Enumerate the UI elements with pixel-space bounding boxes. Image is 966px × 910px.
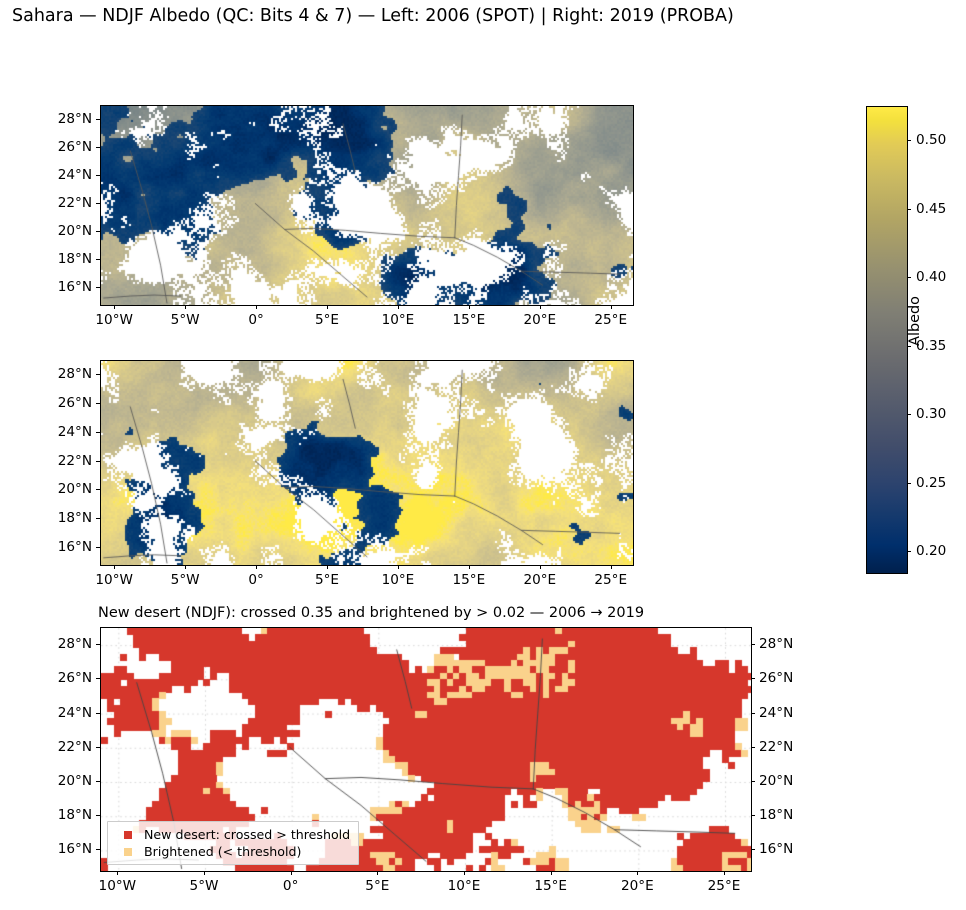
y-tick-label: 16°N xyxy=(14,279,92,295)
x-tick-label: 5°E xyxy=(315,312,339,328)
x-tick-label: 25°E xyxy=(594,312,627,328)
x-tick-label: 20°E xyxy=(523,312,556,328)
x-tick-mark xyxy=(291,871,292,875)
y-tick-label-right: 24°N xyxy=(759,705,793,721)
y-tick-mark xyxy=(96,259,100,260)
legend-swatch-brightened xyxy=(124,848,132,856)
x-tick-mark xyxy=(540,305,541,309)
y-tick-mark xyxy=(96,747,100,748)
x-tick-label: 10°W xyxy=(95,572,133,588)
x-tick-mark xyxy=(117,871,118,875)
x-tick-mark xyxy=(327,305,328,309)
x-tick-label: 20°E xyxy=(621,878,654,894)
colorbar-tick-mark xyxy=(907,140,911,141)
colorbar-tick-label: 0.20 xyxy=(916,543,946,559)
y-tick-label: 26°N xyxy=(14,395,92,411)
y-tick-mark xyxy=(96,815,100,816)
x-tick-mark xyxy=(256,305,257,309)
colorbar-tick-label: 0.45 xyxy=(916,201,946,217)
x-tick-label: 15°E xyxy=(453,572,486,588)
albedo-map-2019-panel[interactable] xyxy=(100,360,634,566)
x-tick-label: 0° xyxy=(248,572,263,588)
y-tick-label: 16°N xyxy=(14,539,92,555)
y-tick-label: 18°N xyxy=(14,807,92,823)
y-tick-mark xyxy=(96,432,100,433)
y-tick-label: 22°N xyxy=(14,739,92,755)
x-tick-mark xyxy=(327,565,328,569)
x-tick-label: 25°E xyxy=(708,878,741,894)
y-tick-label: 22°N xyxy=(14,195,92,211)
colorbar-tick-mark xyxy=(907,209,911,210)
y-tick-mark xyxy=(96,678,100,679)
y-tick-label: 24°N xyxy=(14,424,92,440)
y-tick-mark xyxy=(96,644,100,645)
y-tick-mark xyxy=(96,119,100,120)
y-tick-mark xyxy=(96,287,100,288)
y-tick-label: 18°N xyxy=(14,251,92,267)
x-tick-label: 5°W xyxy=(190,878,219,894)
x-tick-label: 0° xyxy=(248,312,263,328)
y-tick-mark-right xyxy=(751,747,755,748)
x-tick-mark xyxy=(611,565,612,569)
x-tick-mark xyxy=(398,565,399,569)
x-tick-label: 25°E xyxy=(594,572,627,588)
y-tick-mark xyxy=(96,547,100,548)
y-tick-label: 24°N xyxy=(14,167,92,183)
y-tick-mark xyxy=(96,203,100,204)
y-tick-mark-right xyxy=(751,849,755,850)
colorbar-tick-label: 0.50 xyxy=(916,132,946,148)
y-tick-mark-right xyxy=(751,781,755,782)
x-tick-label: 20°E xyxy=(523,572,556,588)
x-tick-label: 5°W xyxy=(171,312,200,328)
y-tick-label-right: 28°N xyxy=(759,636,793,652)
albedo-map-2006-panel[interactable] xyxy=(100,105,634,306)
legend-label-new-desert: New desert: crossed > threshold xyxy=(144,826,350,843)
y-tick-label: 24°N xyxy=(14,705,92,721)
x-tick-mark xyxy=(724,871,725,875)
legend-label-brightened: Brightened (< threshold) xyxy=(144,843,301,860)
y-tick-mark-right xyxy=(751,678,755,679)
x-tick-mark xyxy=(611,305,612,309)
x-tick-label: 10°E xyxy=(448,878,481,894)
x-tick-mark xyxy=(377,871,378,875)
legend-item-brightened[interactable]: Brightened (< threshold) xyxy=(114,843,350,860)
y-tick-mark xyxy=(96,781,100,782)
albedo-map-2019-raster xyxy=(101,361,633,565)
colorbar-tick-label: 0.25 xyxy=(916,475,946,491)
y-tick-label-right: 16°N xyxy=(759,841,793,857)
y-tick-label: 22°N xyxy=(14,453,92,469)
legend-item-new-desert[interactable]: New desert: crossed > threshold xyxy=(114,826,350,843)
y-tick-label: 20°N xyxy=(14,481,92,497)
y-tick-label: 28°N xyxy=(14,111,92,127)
x-tick-mark xyxy=(637,871,638,875)
colorbar-tick-mark xyxy=(907,414,911,415)
x-tick-label: 15°E xyxy=(453,312,486,328)
y-tick-mark xyxy=(96,713,100,714)
y-tick-label-right: 20°N xyxy=(759,773,793,789)
change-map-legend[interactable]: New desert: crossed > threshold Brighten… xyxy=(107,821,359,865)
x-tick-label: 5°E xyxy=(315,572,339,588)
x-tick-label: 10°W xyxy=(95,312,133,328)
y-tick-mark-right xyxy=(751,644,755,645)
colorbar-tick-mark xyxy=(907,551,911,552)
y-tick-mark xyxy=(96,374,100,375)
y-tick-label: 26°N xyxy=(14,670,92,686)
albedo-colorbar-label: Albedo xyxy=(907,261,923,381)
y-tick-mark xyxy=(96,518,100,519)
x-tick-label: 10°W xyxy=(99,878,137,894)
y-tick-label: 16°N xyxy=(14,841,92,857)
x-tick-mark xyxy=(185,305,186,309)
x-tick-label: 10°E xyxy=(382,312,415,328)
y-tick-mark xyxy=(96,849,100,850)
change-map-title: New desert (NDJF): crossed 0.35 and brig… xyxy=(98,605,644,621)
x-tick-label: 0° xyxy=(283,878,298,894)
albedo-colorbar[interactable] xyxy=(866,106,908,574)
y-tick-label-right: 18°N xyxy=(759,807,793,823)
y-tick-mark xyxy=(96,403,100,404)
x-tick-mark xyxy=(114,305,115,309)
x-tick-label: 10°E xyxy=(382,572,415,588)
y-tick-label: 28°N xyxy=(14,366,92,382)
y-tick-label: 26°N xyxy=(14,139,92,155)
y-tick-label: 20°N xyxy=(14,223,92,239)
x-tick-mark xyxy=(540,565,541,569)
y-tick-label-right: 22°N xyxy=(759,739,793,755)
x-tick-mark xyxy=(204,871,205,875)
x-tick-mark xyxy=(256,565,257,569)
colorbar-tick-label: 0.30 xyxy=(916,406,946,422)
x-tick-mark xyxy=(398,305,399,309)
y-tick-mark xyxy=(96,461,100,462)
albedo-map-2006-raster xyxy=(101,106,633,305)
figure-suptitle: Sahara — NDJF Albedo (QC: Bits 4 & 7) — … xyxy=(12,6,734,26)
figure-canvas: Sahara — NDJF Albedo (QC: Bits 4 & 7) — … xyxy=(0,0,966,910)
x-tick-mark xyxy=(114,565,115,569)
y-tick-label: 20°N xyxy=(14,773,92,789)
y-tick-mark xyxy=(96,231,100,232)
x-tick-mark xyxy=(551,871,552,875)
y-tick-mark-right xyxy=(751,713,755,714)
x-tick-mark xyxy=(185,565,186,569)
x-tick-mark xyxy=(469,565,470,569)
x-tick-label: 15°E xyxy=(534,878,567,894)
y-tick-label: 28°N xyxy=(14,636,92,652)
x-tick-label: 5°E xyxy=(365,878,389,894)
y-tick-mark xyxy=(96,147,100,148)
y-tick-mark xyxy=(96,489,100,490)
x-tick-mark xyxy=(464,871,465,875)
x-tick-label: 5°W xyxy=(171,572,200,588)
y-tick-mark xyxy=(96,175,100,176)
x-tick-mark xyxy=(469,305,470,309)
y-tick-mark-right xyxy=(751,815,755,816)
legend-swatch-new-desert xyxy=(124,831,132,839)
colorbar-tick-mark xyxy=(907,483,911,484)
change-map-panel[interactable]: New desert: crossed > threshold Brighten… xyxy=(100,627,752,872)
y-tick-label: 18°N xyxy=(14,510,92,526)
y-tick-label-right: 26°N xyxy=(759,670,793,686)
